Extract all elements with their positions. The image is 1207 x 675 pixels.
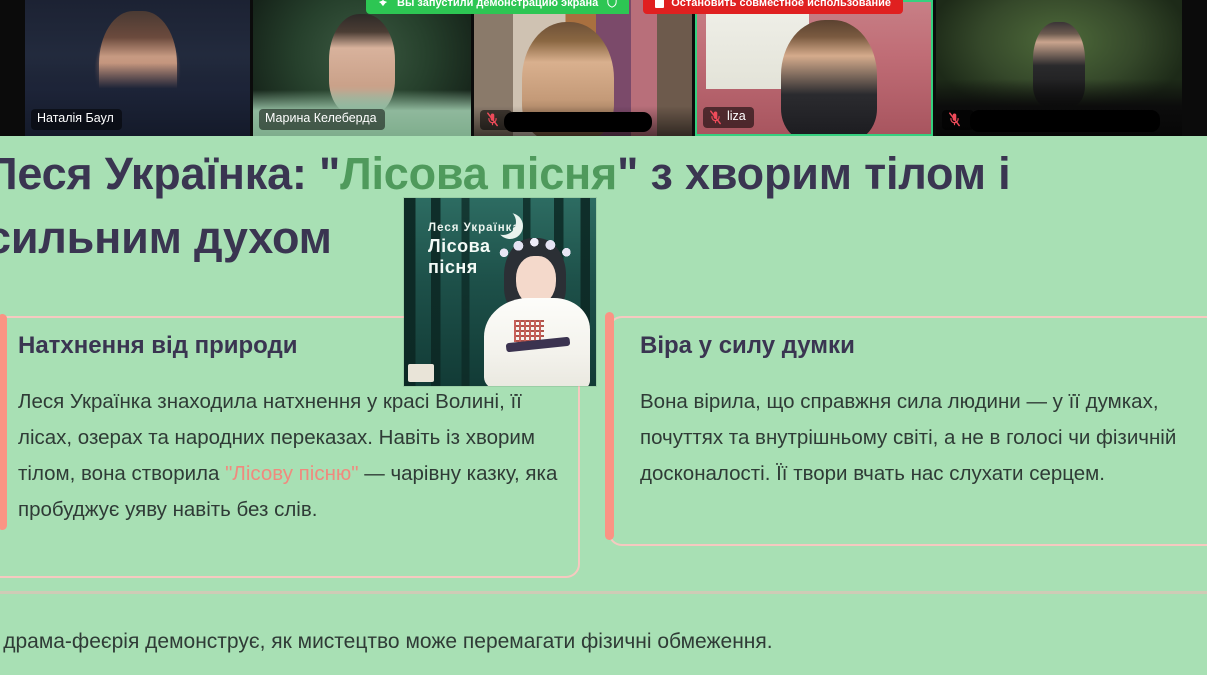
participant-name-4: liza — [727, 109, 746, 125]
card-body-right: Вона вірила, що справжня сила людини — у… — [640, 384, 1200, 492]
participant-tile-3[interactable] — [474, 0, 692, 136]
participant-name-2: Марина Келеберда — [265, 111, 377, 127]
redaction-bar-5 — [970, 110, 1160, 132]
screen-share-status-banner: Вы запустили демонстрацию экрана — [366, 0, 629, 14]
microphone-off-icon — [486, 112, 499, 127]
pin-icon[interactable] — [378, 0, 388, 10]
card-body-left: Леся Українка знаходила натхнення у крас… — [18, 384, 566, 528]
redaction-bar-3 — [504, 112, 652, 132]
illustration-flower-crown — [496, 236, 576, 264]
card-accent-bar-right — [605, 312, 614, 540]
stop-share-label: Остановить совместное использование — [671, 0, 891, 9]
slide-title-line-2: сильним духом — [0, 206, 1207, 270]
book-cover-author: Леся Українка — [428, 222, 520, 234]
stop-share-button[interactable]: Остановить совместное использование — [643, 0, 903, 14]
book-cover-publisher-badge — [408, 364, 434, 382]
screen-share-stage: Леся Українка: "Лісова пісня" з хворим т… — [0, 0, 1207, 675]
microphone-off-icon — [948, 112, 961, 127]
card-heading-left: Натхнення від природи — [18, 332, 298, 360]
illustration-embroidery — [514, 320, 544, 342]
participant-name-badge-2: Марина Келеберда — [259, 109, 385, 130]
microphone-off-icon — [709, 110, 722, 125]
footer-divider — [0, 591, 1207, 594]
book-cover-title: Лісовапісня — [428, 236, 490, 277]
slide-title: Леся Українка: "Лісова пісня" з хворим т… — [0, 142, 1207, 270]
slide-title-part-2: " з хворим тілом і — [617, 148, 1010, 199]
slide-title-part-1: Леся Українка: " — [0, 148, 340, 199]
participant-tile-4-active-speaker[interactable]: liza — [695, 0, 933, 136]
slide-footer-text: я драма-феєрія демонструє, як мистецтво … — [0, 626, 1207, 658]
book-cover-image: Леся Українка Лісовапісня — [404, 198, 596, 386]
zoom-video-strip: Наталія Баул Марина Келеберда — [0, 0, 1207, 136]
slide-title-accent: Лісова пісня — [340, 148, 617, 199]
card-heading-right: Віра у силу думки — [640, 332, 855, 360]
participant-tile-5[interactable] — [936, 0, 1182, 136]
card-body-left-highlight: "Лісову пісню" — [225, 462, 358, 485]
zoom-share-toolbar: Вы запустили демонстрацию экрана Останов… — [366, 0, 903, 14]
participant-name-1: Наталія Баул — [37, 111, 114, 127]
participant-tile-2[interactable]: Марина Келеберда — [253, 0, 471, 136]
screen-share-status-label: Вы запустили демонстрацию экрана — [397, 0, 598, 9]
participant-name-badge-1: Наталія Баул — [31, 109, 122, 130]
stop-square-icon — [655, 0, 664, 8]
shield-icon[interactable] — [607, 0, 617, 11]
presentation-slide: Леся Українка: "Лісова пісня" з хворим т… — [0, 136, 1207, 675]
participant-tile-1[interactable]: Наталія Баул — [25, 0, 250, 136]
participant-name-badge-4: liza — [703, 107, 754, 128]
card-accent-bar-left — [0, 314, 7, 530]
book-cover-illustration-girl — [488, 236, 592, 386]
